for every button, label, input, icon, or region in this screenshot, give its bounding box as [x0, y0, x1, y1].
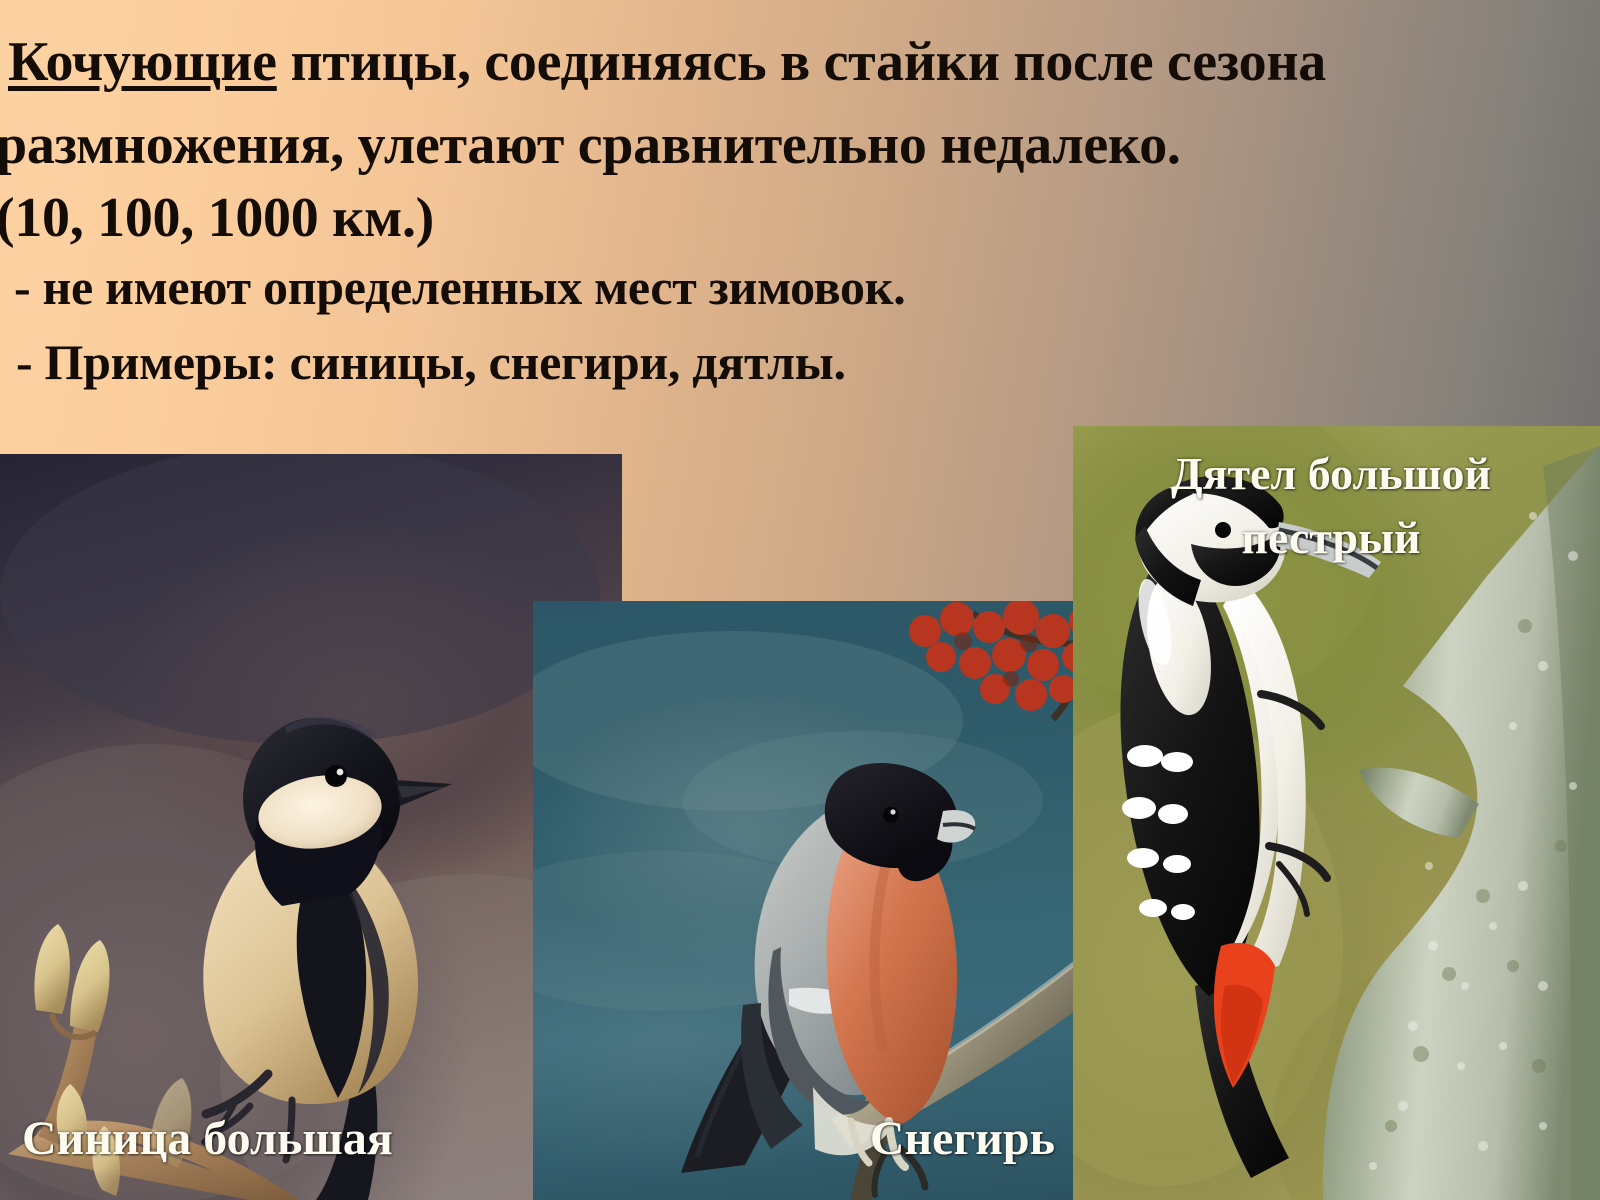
caption-woodpecker-line2: пестрый: [1101, 506, 1561, 570]
text-line-1: Кочующие птицы, соединяясь в стайки посл…: [8, 30, 1326, 94]
bullfinch-illustration: [533, 601, 1155, 1200]
caption-woodpecker: Дятел большой пестрый: [1101, 442, 1561, 571]
caption-tit: Синица большая: [22, 1111, 393, 1166]
photo-bullfinch: Снегирь: [533, 601, 1155, 1200]
text-line-5-bullet: - Примеры: синицы, снегири, дятлы.: [16, 333, 846, 391]
text-line-4-bullet: - не имеют определенных мест зимовок.: [14, 258, 905, 316]
photo-great-tit: Синица большая: [0, 454, 622, 1200]
text-line-2: размножения, улетают сравнительно недале…: [0, 113, 1181, 177]
great-tit-illustration: [0, 454, 622, 1200]
text-line-3: (10, 100, 1000 км.): [0, 186, 434, 250]
text-line-1-rest: птицы, соединяясь в стайки после сезона: [277, 31, 1326, 93]
photo-woodpecker: Дятел большой пестрый: [1073, 426, 1600, 1200]
caption-woodpecker-line1: Дятел большой: [1101, 442, 1561, 506]
keyword-kochuyushchie: Кочующие: [8, 31, 277, 93]
presentation-slide: Кочующие птицы, соединяясь в стайки посл…: [0, 0, 1600, 1200]
caption-bullfinch: Снегирь: [870, 1111, 1055, 1166]
